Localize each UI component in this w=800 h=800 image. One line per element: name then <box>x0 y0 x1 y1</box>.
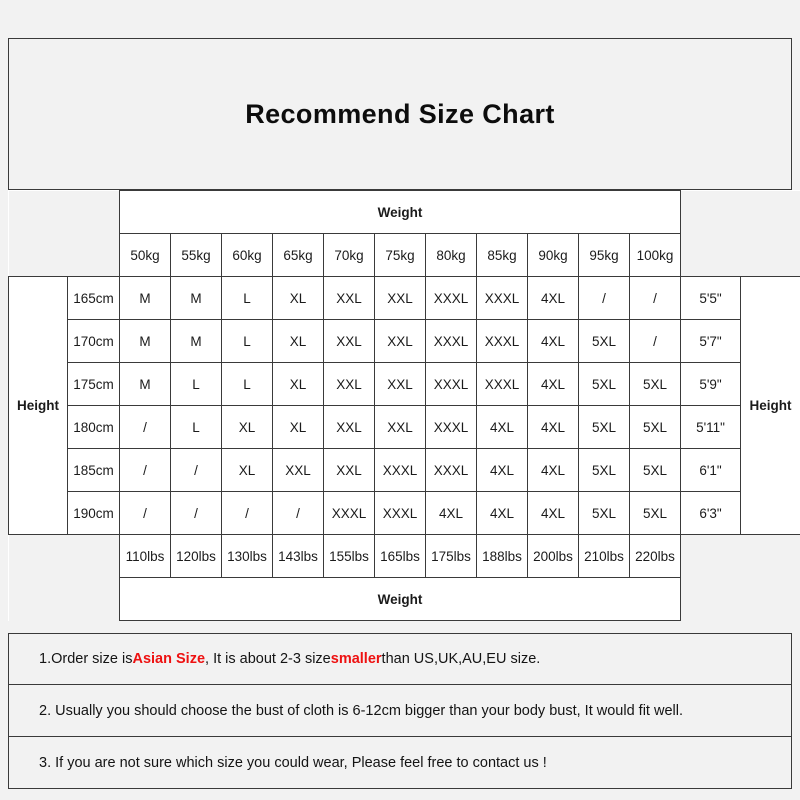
weight-kg-header: 80kg <box>426 234 477 277</box>
weight-kg-header: 55kg <box>171 234 222 277</box>
size-cell: XL <box>273 406 324 449</box>
weight-lbs-header: 130lbs <box>222 535 273 578</box>
height-axis-label-left: Height <box>9 277 68 535</box>
size-cell: 5XL <box>630 449 681 492</box>
grid-spacer <box>741 578 800 621</box>
size-cell: / <box>273 492 324 535</box>
size-cell: XXL <box>375 406 426 449</box>
size-cell: 4XL <box>528 406 579 449</box>
size-cell: 5XL <box>579 363 630 406</box>
size-cell: XL <box>273 320 324 363</box>
size-cell: L <box>222 320 273 363</box>
size-cell: XXL <box>324 277 375 320</box>
page-title: Recommend Size Chart <box>245 99 555 130</box>
note-row: 2. Usually you should choose the bust of… <box>8 685 792 737</box>
size-cell: XL <box>222 449 273 492</box>
weight-lbs-header: 188lbs <box>477 535 528 578</box>
size-cell: / <box>630 277 681 320</box>
size-cell: / <box>222 492 273 535</box>
size-cell: XXXL <box>477 277 528 320</box>
size-cell: / <box>120 406 171 449</box>
note-text: 1.Order size is <box>39 651 132 667</box>
size-cell: M <box>120 320 171 363</box>
size-cell: / <box>120 492 171 535</box>
weight-lbs-header: 155lbs <box>324 535 375 578</box>
grid-spacer <box>741 234 800 277</box>
note-text: than US,UK,AU,EU size. <box>382 651 541 667</box>
size-cell: XXXL <box>426 449 477 492</box>
size-cell: XXL <box>324 449 375 492</box>
size-cell: XXXL <box>426 320 477 363</box>
weight-band-row: Weight <box>9 191 800 234</box>
weight-kg-header: 60kg <box>222 234 273 277</box>
grid-spacer <box>681 191 741 234</box>
size-cell: M <box>171 320 222 363</box>
weight-band-bottom-row: Weight <box>9 578 800 621</box>
grid-spacer <box>681 535 741 578</box>
size-cell: XXXL <box>375 449 426 492</box>
weight-kg-header: 65kg <box>273 234 324 277</box>
note-text: , It is about 2-3 size <box>205 651 331 667</box>
size-cell: XL <box>273 277 324 320</box>
grid-spacer <box>68 234 120 277</box>
height-cm-label: 190cm <box>68 492 120 535</box>
height-axis-label-right: Height <box>741 277 800 535</box>
weight-lbs-header: 143lbs <box>273 535 324 578</box>
grid-spacer <box>68 191 120 234</box>
weight-axis-label-top: Weight <box>120 191 681 234</box>
size-cell: XXL <box>324 406 375 449</box>
size-cell: 4XL <box>528 277 579 320</box>
size-table-row: 185cm//XLXXLXXLXXXLXXXL4XL4XL5XL5XL6'1" <box>9 449 800 492</box>
size-cell: / <box>171 449 222 492</box>
size-cell: L <box>171 363 222 406</box>
size-cell: 5XL <box>630 492 681 535</box>
note-row: 3. If you are not sure which size you co… <box>8 737 792 789</box>
weight-kg-header: 75kg <box>375 234 426 277</box>
size-cell: XXL <box>324 320 375 363</box>
note-text: 2. Usually you should choose the bust of… <box>39 703 683 719</box>
weight-kg-header: 85kg <box>477 234 528 277</box>
height-ft-label: 6'1" <box>681 449 741 492</box>
grid-spacer <box>68 578 120 621</box>
height-cm-label: 170cm <box>68 320 120 363</box>
size-cell: M <box>171 277 222 320</box>
size-cell: XXXL <box>375 492 426 535</box>
note-text: 3. If you are not sure which size you co… <box>39 755 547 771</box>
size-cell: XL <box>273 363 324 406</box>
weight-lbs-header-row: 110lbs120lbs130lbs143lbs155lbs165lbs175l… <box>9 535 800 578</box>
size-cell: 4XL <box>528 363 579 406</box>
size-cell: XXL <box>375 277 426 320</box>
size-cell: 5XL <box>630 363 681 406</box>
size-cell: L <box>222 277 273 320</box>
grid-spacer <box>9 535 68 578</box>
weight-lbs-header: 165lbs <box>375 535 426 578</box>
size-cell: 5XL <box>579 492 630 535</box>
weight-lbs-header: 175lbs <box>426 535 477 578</box>
size-cell: XXXL <box>426 277 477 320</box>
note-highlight: Asian Size <box>132 651 205 667</box>
size-cell: XXXL <box>477 320 528 363</box>
weight-kg-header: 90kg <box>528 234 579 277</box>
size-cell: 4XL <box>426 492 477 535</box>
weight-axis-label-bottom: Weight <box>120 578 681 621</box>
size-cell: XL <box>222 406 273 449</box>
size-chart-page: Recommend Size Chart Weight50kg55kg60kg6… <box>0 0 800 800</box>
size-table-row: 180cm/LXLXLXXLXXLXXXL4XL4XL5XL5XL5'11" <box>9 406 800 449</box>
weight-lbs-header: 120lbs <box>171 535 222 578</box>
size-cell: / <box>630 320 681 363</box>
grid-spacer <box>681 578 741 621</box>
size-cell: 5XL <box>579 406 630 449</box>
weight-kg-header: 50kg <box>120 234 171 277</box>
height-cm-label: 180cm <box>68 406 120 449</box>
weight-kg-header: 70kg <box>324 234 375 277</box>
size-cell: XXXL <box>426 406 477 449</box>
weight-lbs-header: 110lbs <box>120 535 171 578</box>
grid-spacer <box>9 191 68 234</box>
title-band: Recommend Size Chart <box>8 38 792 190</box>
weight-lbs-header: 220lbs <box>630 535 681 578</box>
weight-kg-header: 95kg <box>579 234 630 277</box>
weight-lbs-header: 200lbs <box>528 535 579 578</box>
size-cell: 5XL <box>579 320 630 363</box>
note-highlight: smaller <box>331 651 382 667</box>
height-cm-label: 175cm <box>68 363 120 406</box>
weight-lbs-header: 210lbs <box>579 535 630 578</box>
notes-section: 1.Order size is Asian Size, It is about … <box>8 633 792 789</box>
grid-spacer <box>681 234 741 277</box>
height-cm-label: 185cm <box>68 449 120 492</box>
grid-spacer <box>741 535 800 578</box>
size-chart-table: Weight50kg55kg60kg65kg70kg75kg80kg85kg90… <box>8 190 800 621</box>
size-cell: 5XL <box>630 406 681 449</box>
height-ft-label: 5'7" <box>681 320 741 363</box>
size-cell: 4XL <box>528 320 579 363</box>
size-cell: 4XL <box>477 406 528 449</box>
grid-spacer <box>68 535 120 578</box>
size-cell: 4XL <box>477 449 528 492</box>
grid-spacer <box>9 578 68 621</box>
note-row: 1.Order size is Asian Size, It is about … <box>8 633 792 685</box>
height-ft-label: 5'9" <box>681 363 741 406</box>
size-cell: 5XL <box>579 449 630 492</box>
size-cell: 4XL <box>477 492 528 535</box>
size-cell: 4XL <box>528 492 579 535</box>
height-ft-label: 5'5" <box>681 277 741 320</box>
height-ft-label: 6'3" <box>681 492 741 535</box>
size-table-row: 175cmMLLXLXXLXXLXXXLXXXL4XL5XL5XL5'9" <box>9 363 800 406</box>
size-table-row: 170cmMMLXLXXLXXLXXXLXXXL4XL5XL/5'7" <box>9 320 800 363</box>
size-cell: XXL <box>273 449 324 492</box>
weight-kg-header: 100kg <box>630 234 681 277</box>
weight-kg-header-row: 50kg55kg60kg65kg70kg75kg80kg85kg90kg95kg… <box>9 234 800 277</box>
size-table-row: 190cm////XXXLXXXL4XL4XL4XL5XL5XL6'3" <box>9 492 800 535</box>
grid-spacer <box>9 234 68 277</box>
size-cell: 4XL <box>528 449 579 492</box>
height-ft-label: 5'11" <box>681 406 741 449</box>
size-cell: XXXL <box>477 363 528 406</box>
size-cell: L <box>171 406 222 449</box>
height-cm-label: 165cm <box>68 277 120 320</box>
size-table-row: Height165cmMMLXLXXLXXLXXXLXXXL4XL//5'5"H… <box>9 277 800 320</box>
size-cell: / <box>579 277 630 320</box>
size-cell: XXXL <box>426 363 477 406</box>
size-cell: M <box>120 363 171 406</box>
size-cell: XXXL <box>324 492 375 535</box>
size-cell: XXL <box>324 363 375 406</box>
size-cell: L <box>222 363 273 406</box>
grid-spacer <box>741 191 800 234</box>
size-cell: M <box>120 277 171 320</box>
size-cell: XXL <box>375 320 426 363</box>
size-cell: XXL <box>375 363 426 406</box>
size-cell: / <box>120 449 171 492</box>
size-cell: / <box>171 492 222 535</box>
